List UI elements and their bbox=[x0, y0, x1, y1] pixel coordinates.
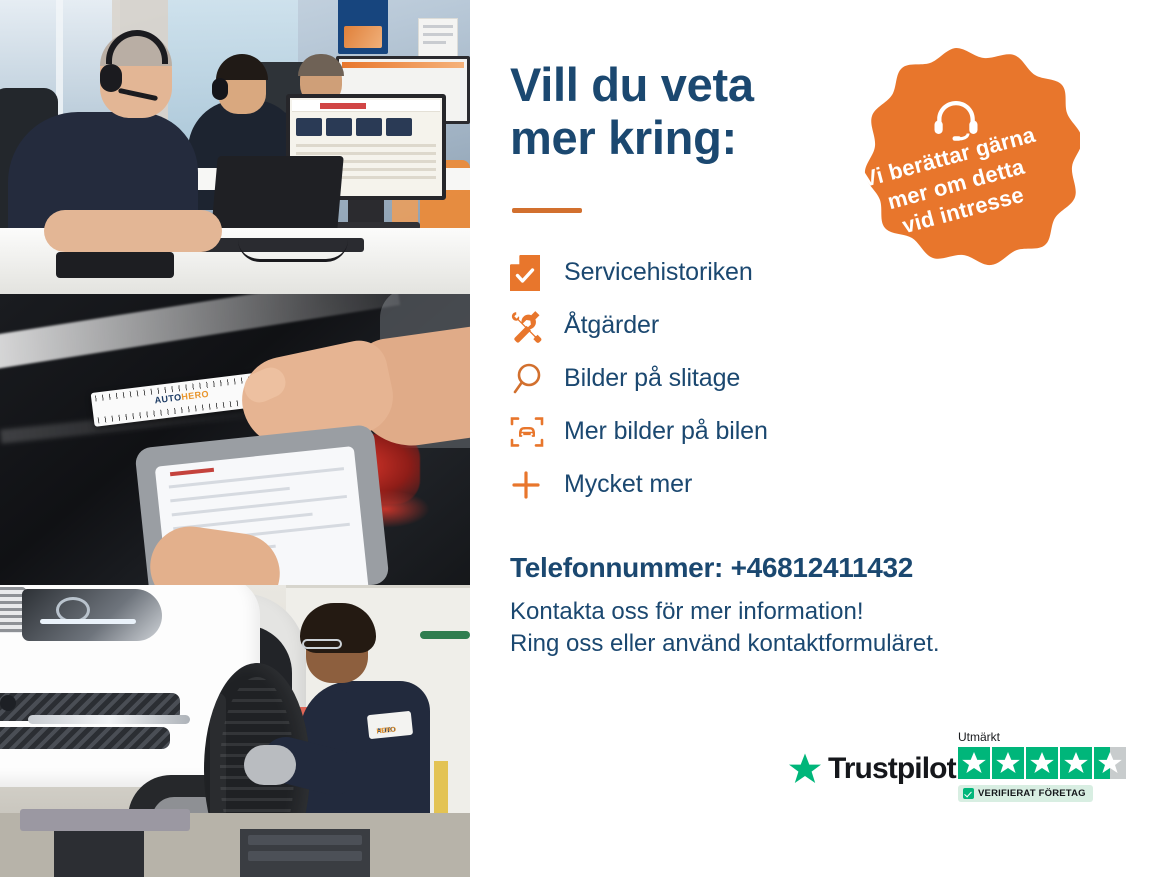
car-inspection-photo: AUTOHERO bbox=[0, 294, 470, 585]
star-2 bbox=[992, 747, 1024, 779]
feature-label: Servicehistoriken bbox=[564, 258, 753, 287]
star-4 bbox=[1060, 747, 1092, 779]
verified-label: VERIFIERAT FÖRETAG bbox=[978, 788, 1086, 799]
feature-label: Mer bilder på bilen bbox=[564, 417, 768, 446]
phone-line: Telefonnummer: +46812411432 bbox=[510, 552, 1110, 584]
feature-item-mycket-mer: Mycket mer bbox=[510, 458, 930, 511]
verified-company-badge: VERIFIERAT FÖRETAG bbox=[958, 785, 1093, 802]
checklist-document-icon bbox=[510, 255, 564, 291]
promo-banner: AUTOHERO AUTOHERO bbox=[0, 0, 1170, 877]
trustpilot-widget[interactable]: Trustpilot Utmärkt VERIFIERAT FÖRETAG bbox=[788, 730, 1133, 822]
contact-line-2: Ring oss eller använd kontaktformuläret. bbox=[510, 630, 1110, 658]
feature-list: Servicehistoriken Åtgärder bbox=[510, 246, 930, 511]
star-5-half bbox=[1094, 747, 1126, 779]
photo-column: AUTOHERO AUTOHERO bbox=[0, 0, 470, 877]
car-scan-icon bbox=[510, 415, 564, 449]
wrench-screwdriver-icon bbox=[510, 309, 564, 343]
star-1 bbox=[958, 747, 990, 779]
call-center-agents-photo bbox=[0, 0, 470, 294]
star-rating bbox=[958, 747, 1133, 779]
trustpilot-wordmark: Trustpilot bbox=[828, 752, 956, 786]
feature-item-atgarder: Åtgärder bbox=[510, 299, 930, 352]
trustpilot-logo: Trustpilot bbox=[788, 752, 956, 786]
verified-check-icon bbox=[963, 788, 974, 799]
feature-item-mer-bilder-pa-bilen: Mer bilder på bilen bbox=[510, 405, 930, 458]
feature-label: Bilder på slitage bbox=[564, 364, 740, 393]
magnifier-icon bbox=[510, 362, 564, 396]
star-3 bbox=[1026, 747, 1058, 779]
plus-icon bbox=[510, 469, 564, 501]
feature-label: Åtgärder bbox=[564, 311, 659, 340]
feature-label: Mycket mer bbox=[564, 470, 692, 499]
contact-line-1: Kontakta oss för mer information! bbox=[510, 598, 1110, 626]
tire-service-photo: AUTOHERO bbox=[0, 585, 470, 877]
phone-label: Telefonnummer: bbox=[510, 552, 723, 583]
phone-number[interactable]: +46812411432 bbox=[731, 552, 914, 583]
contact-block: Telefonnummer: +46812411432 Kontakta oss… bbox=[510, 552, 1110, 658]
feature-item-bilder-pa-slitage: Bilder på slitage bbox=[510, 352, 930, 405]
content-column: Vill du veta mer kring: Vi berättar gärn… bbox=[470, 0, 1170, 877]
title-divider bbox=[512, 208, 582, 213]
rating-caption: Utmärkt bbox=[958, 730, 1133, 744]
feature-item-servicehistoriken: Servicehistoriken bbox=[510, 246, 930, 299]
trustpilot-star-icon bbox=[788, 752, 822, 786]
trustpilot-rating: Utmärkt VERIFIERAT FÖRETAG bbox=[958, 730, 1133, 804]
